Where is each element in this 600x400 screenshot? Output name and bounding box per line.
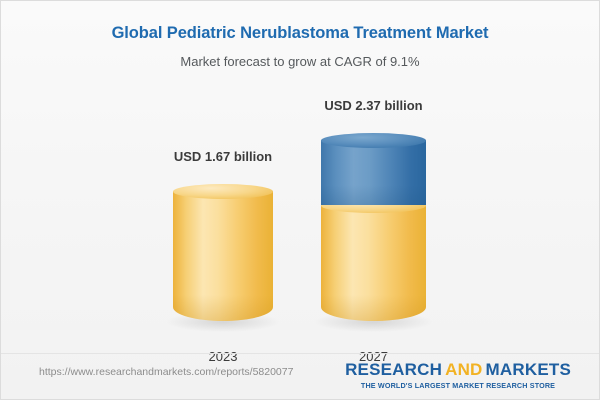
bar-group-2027: USD 2.37 billion 2027 bbox=[321, 81, 426, 346]
cylinder-segment-growth bbox=[321, 140, 426, 205]
report-url[interactable]: https://www.researchandmarkets.com/repor… bbox=[39, 366, 293, 378]
bar-group-2023: USD 1.67 billion 2023 bbox=[173, 81, 273, 346]
logo-word-research: RESEARCH bbox=[345, 360, 442, 379]
cylinder-segment-base bbox=[321, 205, 426, 321]
logo-tagline: THE WORLD'S LARGEST MARKET RESEARCH STOR… bbox=[345, 381, 571, 390]
footer-divider bbox=[1, 353, 599, 354]
plot-area: USD 1.67 billion 2023 USD 2.37 billion bbox=[1, 81, 600, 346]
cylinder-segment-base bbox=[173, 191, 273, 321]
cylinder-bottom-shading bbox=[321, 295, 426, 321]
value-label-2027: USD 2.37 billion bbox=[324, 98, 422, 113]
cylinder-bottom-shading bbox=[321, 185, 426, 205]
axis-label-2023: 2023 bbox=[209, 349, 238, 364]
cylinder-bottom-shading bbox=[173, 295, 273, 321]
chart-title: Global Pediatric Nerublastoma Treatment … bbox=[1, 24, 599, 43]
logo-word-markets: MARKETS bbox=[486, 360, 571, 379]
cylinder-top-cap bbox=[321, 133, 426, 148]
logo-wordmark: RESEARCHANDMARKETS bbox=[345, 361, 571, 378]
cylinder-top-cap bbox=[173, 184, 273, 199]
cylinder-2023[interactable] bbox=[173, 191, 273, 321]
chart-subtitle: Market forecast to grow at CAGR of 9.1% bbox=[1, 54, 599, 69]
logo-word-and: AND bbox=[445, 360, 482, 379]
cylinder-2027[interactable] bbox=[321, 140, 426, 321]
chart-card: Global Pediatric Nerublastoma Treatment … bbox=[0, 0, 600, 400]
research-and-markets-logo[interactable]: RESEARCHANDMARKETS THE WORLD'S LARGEST M… bbox=[345, 361, 571, 390]
value-label-2023: USD 1.67 billion bbox=[174, 149, 272, 164]
